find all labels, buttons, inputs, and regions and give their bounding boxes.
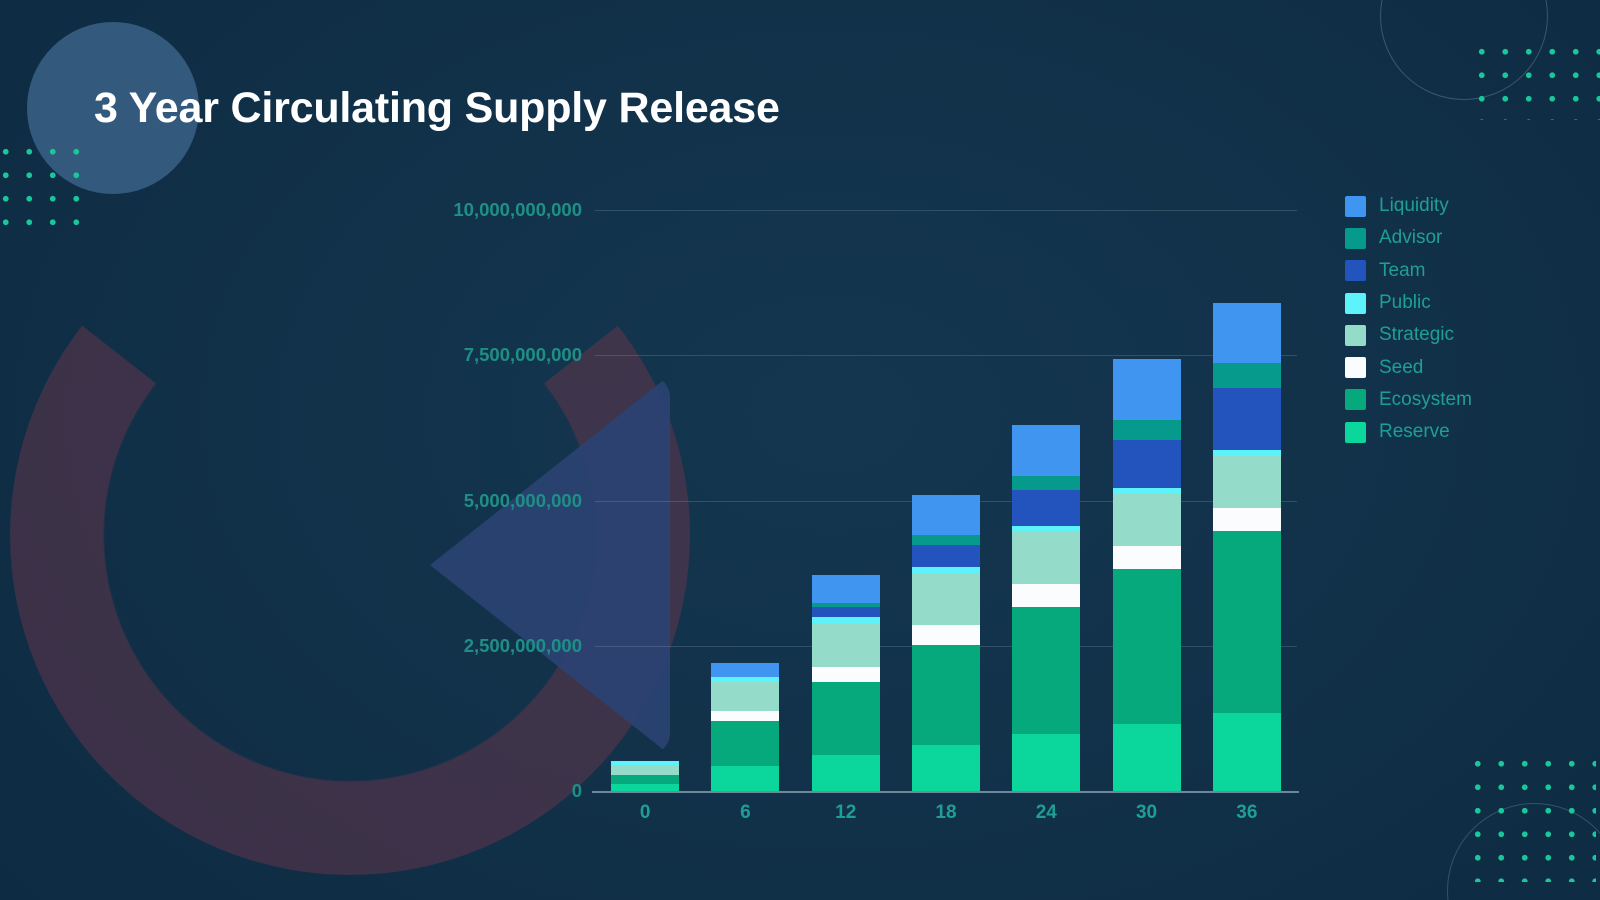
bar-segment-strategic[interactable] xyxy=(1213,456,1281,508)
bar-segment-strategic[interactable] xyxy=(1012,531,1080,583)
x-axis-tick-label: 24 xyxy=(1036,802,1057,824)
legend-label: Reserve xyxy=(1379,421,1450,443)
bar-segment-reserve[interactable] xyxy=(611,784,679,791)
legend-swatch-ecosystem xyxy=(1345,389,1366,410)
legend-item-team[interactable]: Team xyxy=(1345,255,1472,287)
bar-segment-ecosystem[interactable] xyxy=(611,775,679,784)
y-axis-tick-label: 2,500,000,000 xyxy=(464,635,582,657)
legend-swatch-team xyxy=(1345,260,1366,281)
bar-segment-ecosystem[interactable] xyxy=(1213,531,1281,713)
legend-item-ecosystem[interactable]: Ecosystem xyxy=(1345,384,1472,416)
bar-segment-strategic[interactable] xyxy=(1113,494,1181,546)
bar-segment-seed[interactable] xyxy=(711,711,779,720)
bar-segment-team[interactable] xyxy=(812,607,880,617)
x-axis-tick-label: 18 xyxy=(935,802,956,824)
bar-segment-seed[interactable] xyxy=(912,625,980,644)
bar-segment-team[interactable] xyxy=(1113,440,1181,488)
legend-swatch-advisor xyxy=(1345,228,1366,249)
bar-segment-liquidity[interactable] xyxy=(812,575,880,603)
legend-item-seed[interactable]: Seed xyxy=(1345,351,1472,383)
chart-bar[interactable] xyxy=(1113,359,1181,791)
legend-swatch-liquidity xyxy=(1345,196,1366,217)
bar-segment-reserve[interactable] xyxy=(1012,734,1080,791)
legend-label: Ecosystem xyxy=(1379,389,1472,411)
chart-bar[interactable] xyxy=(912,495,980,791)
y-axis-tick-label: 10,000,000,000 xyxy=(453,199,582,221)
bar-segment-seed[interactable] xyxy=(1113,546,1181,569)
legend-item-advisor[interactable]: Advisor xyxy=(1345,222,1472,254)
chart-legend: LiquidityAdvisorTeamPublicStrategicSeedE… xyxy=(1345,190,1472,448)
chart-bar[interactable] xyxy=(711,663,779,791)
bar-segment-seed[interactable] xyxy=(1012,584,1080,607)
x-axis-tick-label: 0 xyxy=(640,802,651,824)
legend-label: Seed xyxy=(1379,357,1423,379)
legend-swatch-seed xyxy=(1345,357,1366,378)
legend-label: Team xyxy=(1379,260,1425,282)
x-axis-tick-label: 36 xyxy=(1236,802,1257,824)
bar-segment-team[interactable] xyxy=(912,545,980,568)
legend-label: Public xyxy=(1379,292,1431,314)
bar-segment-liquidity[interactable] xyxy=(1012,425,1080,476)
bar-segment-strategic[interactable] xyxy=(711,682,779,711)
bar-segment-reserve[interactable] xyxy=(711,766,779,791)
bar-segment-advisor[interactable] xyxy=(1213,363,1281,388)
bar-segment-reserve[interactable] xyxy=(912,745,980,791)
bar-segment-ecosystem[interactable] xyxy=(711,721,779,766)
bar-segment-liquidity[interactable] xyxy=(711,663,779,677)
y-axis-tick-label: 5,000,000,000 xyxy=(464,490,582,512)
bar-segment-liquidity[interactable] xyxy=(1113,359,1181,420)
bar-segment-strategic[interactable] xyxy=(611,765,679,775)
bar-segment-advisor[interactable] xyxy=(1012,476,1080,491)
supply-release-chart: 02,500,000,0005,000,000,0007,500,000,000… xyxy=(0,0,1600,900)
bar-segment-reserve[interactable] xyxy=(1213,713,1281,791)
bar-segment-liquidity[interactable] xyxy=(1213,303,1281,363)
x-axis-line xyxy=(592,791,1299,793)
bar-segment-reserve[interactable] xyxy=(812,755,880,791)
bar-segment-ecosystem[interactable] xyxy=(1113,569,1181,724)
chart-bar[interactable] xyxy=(1213,303,1281,791)
legend-swatch-strategic xyxy=(1345,325,1366,346)
bar-segment-team[interactable] xyxy=(1012,490,1080,525)
bar-segment-ecosystem[interactable] xyxy=(1012,607,1080,734)
bar-segment-liquidity[interactable] xyxy=(912,495,980,535)
bar-segment-ecosystem[interactable] xyxy=(912,645,980,745)
chart-bar[interactable] xyxy=(611,761,679,791)
gridline xyxy=(595,210,1297,211)
legend-swatch-public xyxy=(1345,293,1366,314)
bar-segment-seed[interactable] xyxy=(812,667,880,682)
bar-segment-strategic[interactable] xyxy=(812,623,880,667)
legend-label: Liquidity xyxy=(1379,195,1449,217)
bar-segment-advisor[interactable] xyxy=(1113,420,1181,440)
legend-swatch-reserve xyxy=(1345,422,1366,443)
bar-segment-reserve[interactable] xyxy=(1113,724,1181,791)
gridline xyxy=(595,355,1297,356)
x-axis-tick-label: 6 xyxy=(740,802,751,824)
legend-item-liquidity[interactable]: Liquidity xyxy=(1345,190,1472,222)
legend-item-reserve[interactable]: Reserve xyxy=(1345,416,1472,448)
y-axis-tick-label: 7,500,000,000 xyxy=(464,344,582,366)
legend-label: Strategic xyxy=(1379,324,1454,346)
x-axis-tick-label: 12 xyxy=(835,802,856,824)
y-axis-tick-label: 0 xyxy=(572,780,582,802)
slide-canvas: 3 Year Circulating Supply Release 02,500… xyxy=(0,0,1600,900)
legend-item-public[interactable]: Public xyxy=(1345,287,1472,319)
legend-item-strategic[interactable]: Strategic xyxy=(1345,319,1472,351)
bar-segment-ecosystem[interactable] xyxy=(812,682,880,755)
bar-segment-seed[interactable] xyxy=(1213,508,1281,531)
chart-bar[interactable] xyxy=(1012,425,1080,791)
legend-label: Advisor xyxy=(1379,227,1442,249)
x-axis-tick-label: 30 xyxy=(1136,802,1157,824)
bar-segment-advisor[interactable] xyxy=(912,535,980,544)
bar-segment-team[interactable] xyxy=(1213,388,1281,450)
chart-plot-area xyxy=(595,210,1297,791)
bar-segment-strategic[interactable] xyxy=(912,573,980,625)
page-title: 3 Year Circulating Supply Release xyxy=(94,84,780,133)
chart-bar[interactable] xyxy=(812,575,880,791)
